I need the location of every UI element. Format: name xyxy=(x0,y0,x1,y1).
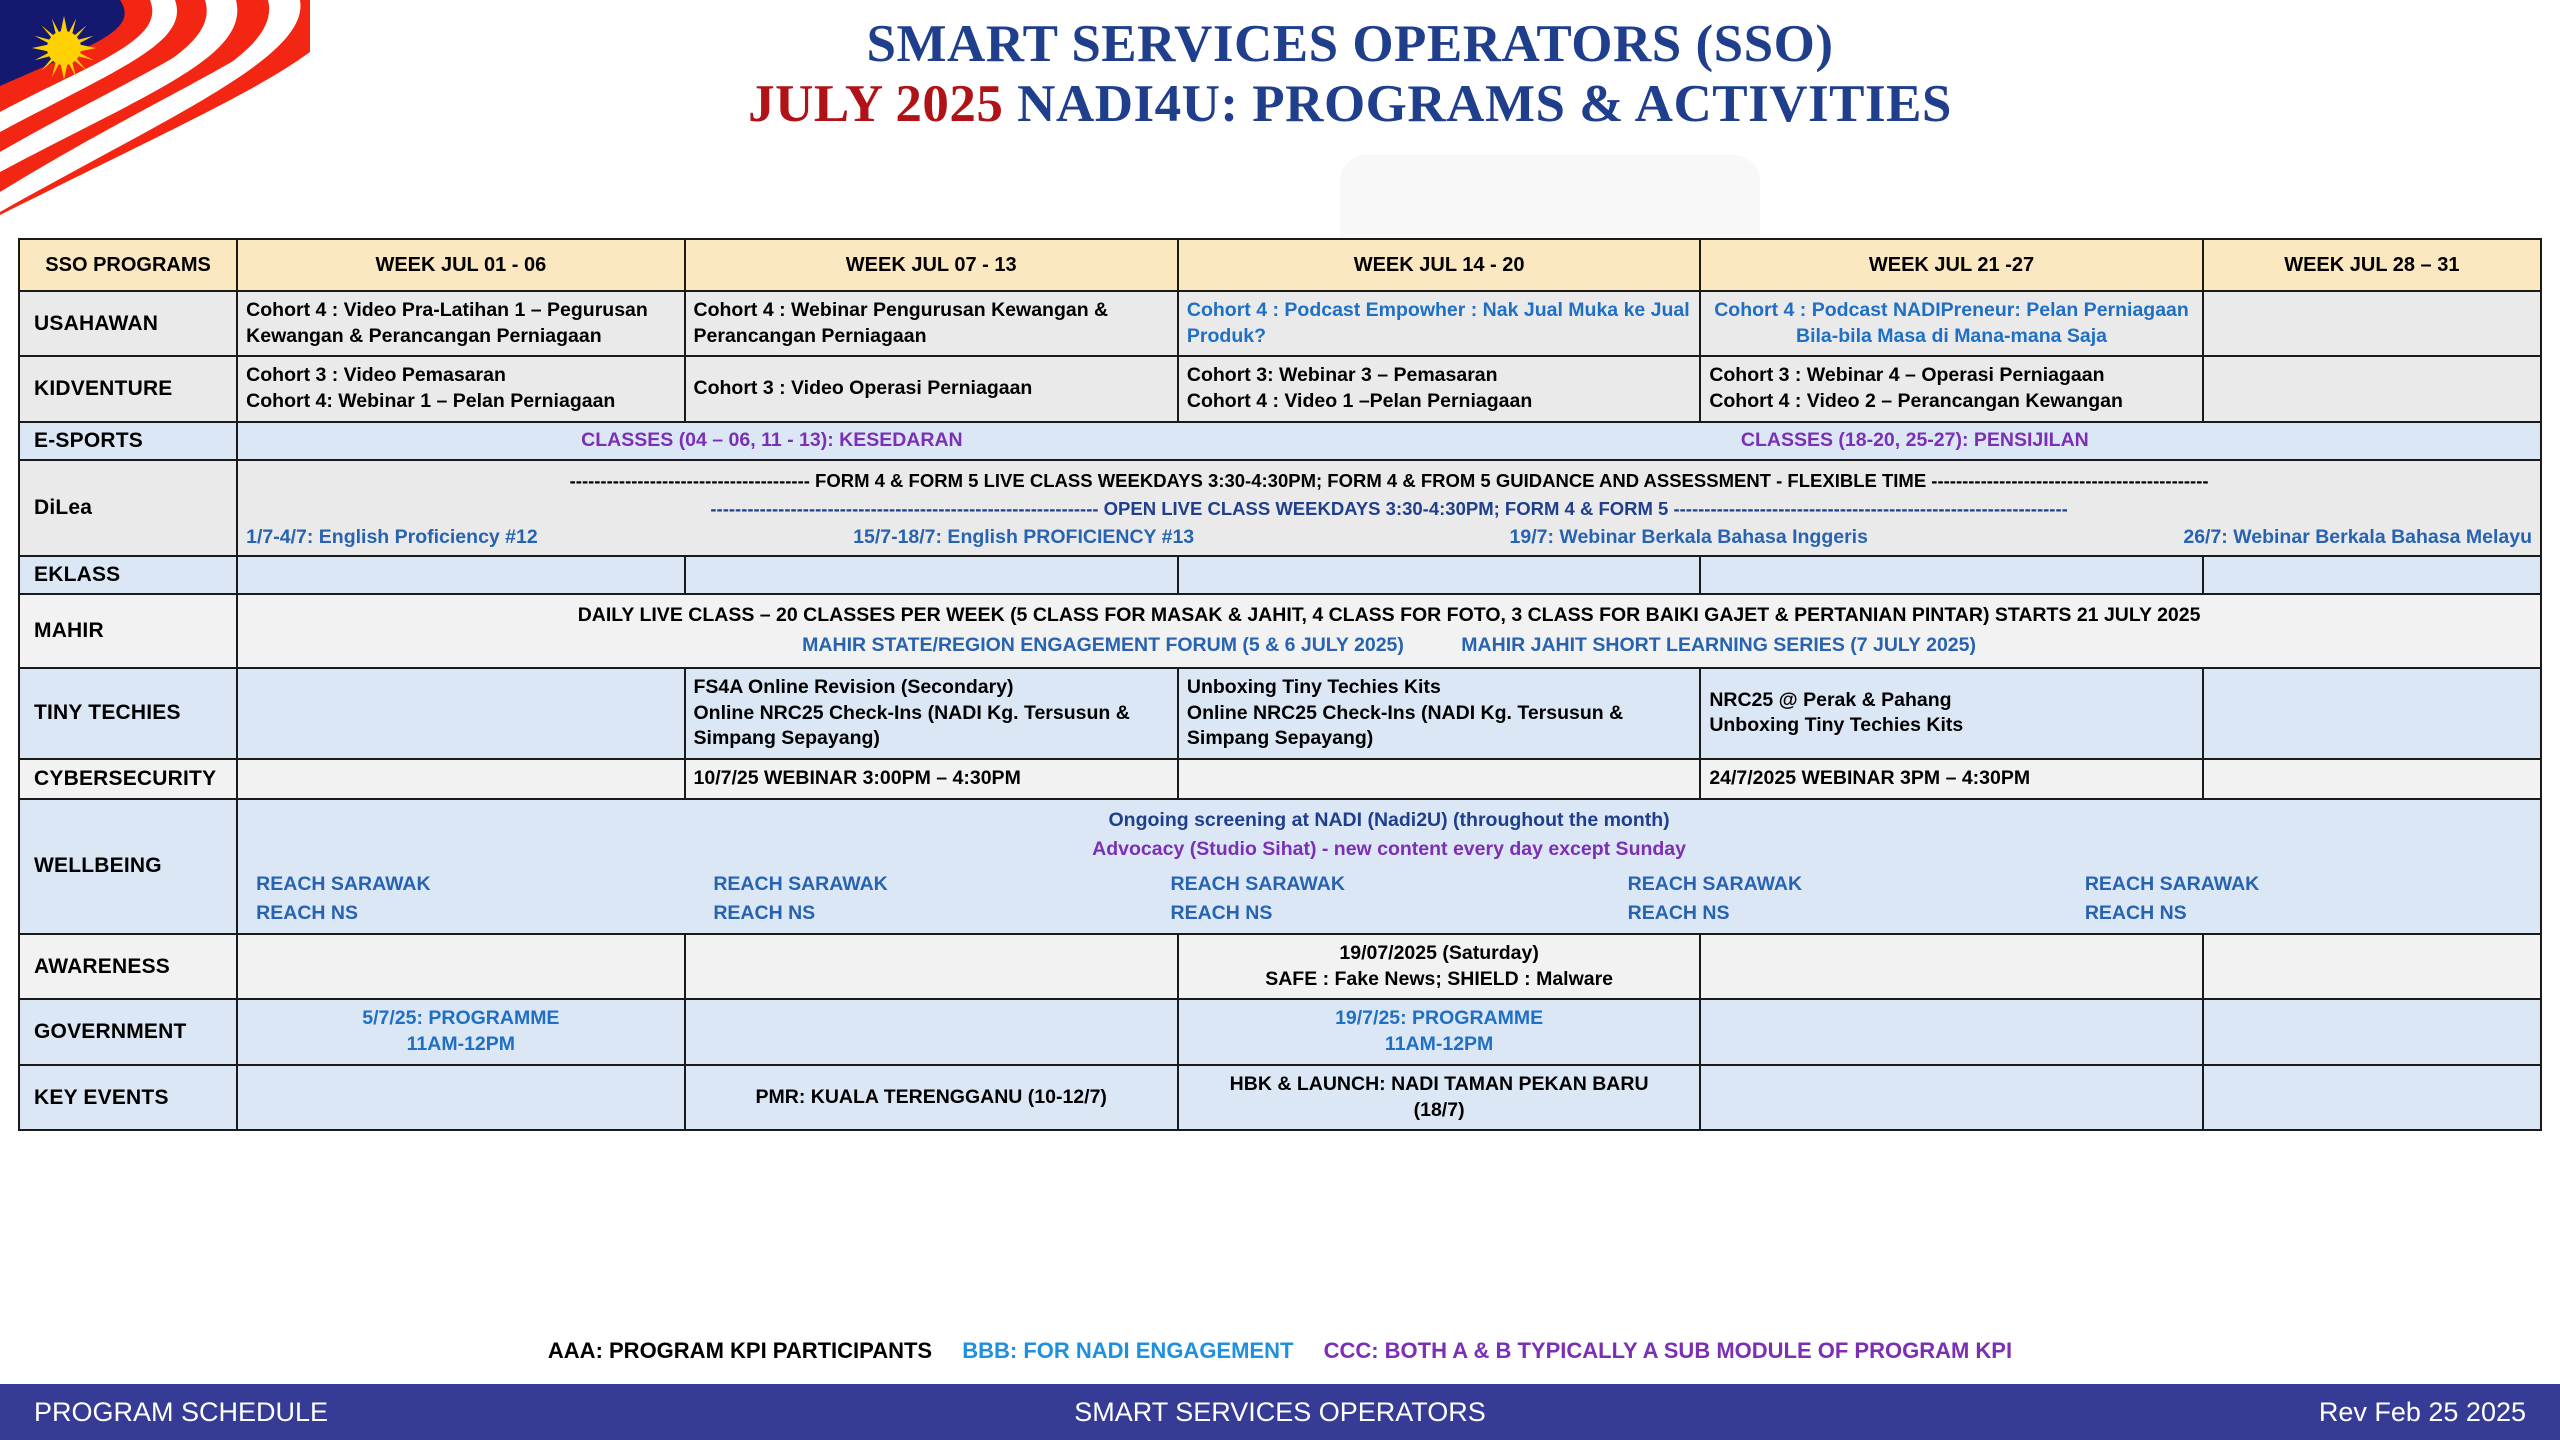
cell-line: Online NRC25 Check-Ins (NADI Kg. Tersusu… xyxy=(694,701,1169,752)
cell-mahir-span: DAILY LIVE CLASS – 20 CLASSES PER WEEK (… xyxy=(237,594,2541,667)
table-row-cybersecurity: CYBERSECURITY 10/7/25 WEBINAR 3:00PM – 4… xyxy=(19,759,2541,799)
cell-eklass-week2 xyxy=(685,556,1178,594)
title-month: JULY 2025 xyxy=(748,75,1003,133)
cell-eklass-week5 xyxy=(2203,556,2541,594)
esports-classes-left: CLASSES (04 – 06, 11 - 13): KESEDARAN xyxy=(246,429,1297,452)
cell-line: Unboxing Tiny Techies Kits xyxy=(1709,713,2193,739)
cell-line: Unboxing Tiny Techies Kits xyxy=(1187,675,1691,701)
footer-bar: PROGRAM SCHEDULE SMART SERVICES OPERATOR… xyxy=(0,1384,2560,1440)
footer-center-label: SMART SERVICES OPERATORS xyxy=(0,1397,2560,1428)
page-title: SMART SERVICES OPERATORS (SSO) JULY 2025… xyxy=(500,14,2200,135)
table-row-tiny-techies: TINY TECHIES FS4A Online Revision (Secon… xyxy=(19,668,2541,759)
dilea-item-4: 26/7: Webinar Berkala Bahasa Melayu xyxy=(2183,526,2532,549)
cell-esports-span: CLASSES (04 – 06, 11 - 13): KESEDARAN CL… xyxy=(237,422,2541,460)
cell-line: NRC25 @ Perak & Pahang xyxy=(1709,688,2193,714)
cell-line: 19/7/25: PROGRAMME xyxy=(1187,1006,1691,1032)
cell-kidventure-week4: Cohort 3 : Webinar 4 – Operasi Perniagaa… xyxy=(1700,356,2202,421)
legend-bbb: BBB: FOR NADI ENGAGEMENT xyxy=(962,1338,1293,1363)
mahir-events: MAHIR STATE/REGION ENGAGEMENT FORUM (5 &… xyxy=(246,630,2532,661)
title-subject: NADI4U: PROGRAMS & ACTIVITIES xyxy=(1003,75,1951,133)
cell-line: 11AM-12PM xyxy=(1187,1032,1691,1058)
table-row-kidventure: KIDVENTURE Cohort 3 : Video Pemasaran Co… xyxy=(19,356,2541,421)
table-row-esports: E-SPORTS CLASSES (04 – 06, 11 - 13): KES… xyxy=(19,422,2541,460)
cell-wellbeing-span: Ongoing screening at NADI (Nadi2U) (thro… xyxy=(237,799,2541,934)
dilea-banner-line-2: ----------------------------------------… xyxy=(246,495,2532,523)
reach-sarawak-w4: REACH SARAWAK xyxy=(1618,870,2075,898)
row-label-mahir: MAHIR xyxy=(19,594,237,667)
row-label-esports: E-SPORTS xyxy=(19,422,237,460)
mahir-event-1: MAHIR STATE/REGION ENGAGEMENT FORUM (5 &… xyxy=(802,634,1404,656)
wellbeing-note-screening: Ongoing screening at NADI (Nadi2U) (thro… xyxy=(246,806,2532,835)
cell-government-week2 xyxy=(685,999,1178,1064)
cell-line: Cohort 4: Webinar 1 – Pelan Perniagaan xyxy=(246,389,675,415)
reach-ns-w2: REACH NS xyxy=(703,899,1160,927)
cell-usahawan-week5 xyxy=(2203,291,2541,356)
cell-usahawan-week4: Cohort 4 : Podcast NADIPreneur: Pelan Pe… xyxy=(1700,291,2202,356)
table-row-wellbeing: WELLBEING Ongoing screening at NADI (Nad… xyxy=(19,799,2541,934)
row-label-kidventure: KIDVENTURE xyxy=(19,356,237,421)
cell-tiny-techies-week5 xyxy=(2203,668,2541,759)
mahir-event-2: MAHIR JAHIT SHORT LEARNING SERIES (7 JUL… xyxy=(1461,634,1976,656)
cell-awareness-week2 xyxy=(685,934,1178,999)
row-label-eklass: EKLASS xyxy=(19,556,237,594)
cell-line: SAFE : Fake News; SHIELD : Malware xyxy=(1187,967,1691,993)
table-row-awareness: AWARENESS 19/07/2025 (Saturday) SAFE : F… xyxy=(19,934,2541,999)
mahir-daily-class-note: DAILY LIVE CLASS – 20 CLASSES PER WEEK (… xyxy=(246,601,2532,629)
title-line-2: JULY 2025 NADI4U: PROGRAMS & ACTIVITIES xyxy=(500,74,2200,134)
legend: AAA: PROGRAM KPI PARTICIPANTS BBB: FOR N… xyxy=(0,1338,2560,1364)
cell-kidventure-week2: Cohort 3 : Video Operasi Perniagaan xyxy=(685,356,1178,421)
cell-tiny-techies-week1 xyxy=(237,668,684,759)
cell-line: Cohort 3 : Video Pemasaran xyxy=(246,363,675,389)
table-row-key-events: KEY EVENTS PMR: KUALA TERENGGANU (10-12/… xyxy=(19,1065,2541,1130)
row-label-dilea: DiLea xyxy=(19,460,237,557)
cell-government-week4 xyxy=(1700,999,2202,1064)
dilea-item-2: 15/7-18/7: English PROFICIENCY #13 xyxy=(853,526,1194,549)
cell-line: Cohort 3 : Webinar 4 – Operasi Perniagaa… xyxy=(1709,363,2193,389)
cell-eklass-week3 xyxy=(1178,556,1700,594)
row-label-usahawan: USAHAWAN xyxy=(19,291,237,356)
cell-usahawan-week1: Cohort 4 : Video Pra-Latihan 1 – Pegurus… xyxy=(237,291,684,356)
row-label-cybersecurity: CYBERSECURITY xyxy=(19,759,237,799)
cell-line: 19/07/2025 (Saturday) xyxy=(1187,941,1691,967)
wellbeing-note-advocacy: Advocacy (Studio Sihat) - new content ev… xyxy=(246,835,2532,864)
column-header-programs: SSO PROGRAMS xyxy=(19,239,237,291)
cell-dilea-span: --------------------------------------- … xyxy=(237,460,2541,557)
row-label-wellbeing: WELLBEING xyxy=(19,799,237,934)
schedule-table: SSO PROGRAMS WEEK JUL 01 - 06 WEEK JUL 0… xyxy=(18,238,2542,1131)
reach-ns-w1: REACH NS xyxy=(246,899,703,927)
legend-ccc: CCC: BOTH A & B TYPICALLY A SUB MODULE O… xyxy=(1324,1338,2013,1363)
column-header-week1: WEEK JUL 01 - 06 xyxy=(237,239,684,291)
cell-key-events-week4 xyxy=(1700,1065,2202,1130)
esports-classes-right: CLASSES (18-20, 25-27): PENSIJILAN xyxy=(1298,429,2532,452)
cell-line: (18/7) xyxy=(1187,1098,1691,1124)
cell-key-events-week2: PMR: KUALA TERENGGANU (10-12/7) xyxy=(685,1065,1178,1130)
cell-awareness-week5 xyxy=(2203,934,2541,999)
cell-tiny-techies-week4: NRC25 @ Perak & Pahang Unboxing Tiny Tec… xyxy=(1700,668,2202,759)
cell-awareness-week4 xyxy=(1700,934,2202,999)
reach-ns-w3: REACH NS xyxy=(1161,899,1618,927)
row-label-tiny-techies: TINY TECHIES xyxy=(19,668,237,759)
cell-cybersecurity-week4: 24/7/2025 WEBINAR 3PM – 4:30PM xyxy=(1700,759,2202,799)
program-schedule-page: SMART SERVICES OPERATORS (SSO) JULY 2025… xyxy=(0,0,2560,1440)
row-label-awareness: AWARENESS xyxy=(19,934,237,999)
cell-line: Cohort 4 : Video 1 –Pelan Perniagaan xyxy=(1187,389,1691,415)
cell-kidventure-week3: Cohort 3: Webinar 3 – Pemasaran Cohort 4… xyxy=(1178,356,1700,421)
cell-key-events-week5 xyxy=(2203,1065,2541,1130)
column-header-week3: WEEK JUL 14 - 20 xyxy=(1178,239,1700,291)
cell-kidventure-week1: Cohort 3 : Video Pemasaran Cohort 4: Web… xyxy=(237,356,684,421)
cell-kidventure-week5 xyxy=(2203,356,2541,421)
column-header-week5: WEEK JUL 28 – 31 xyxy=(2203,239,2541,291)
cell-line: 11AM-12PM xyxy=(246,1032,675,1058)
reach-ns-w5: REACH NS xyxy=(2075,899,2532,927)
cell-government-week3: 19/7/25: PROGRAMME 11AM-12PM xyxy=(1178,999,1700,1064)
cell-line: Cohort 3: Webinar 3 – Pemasaran xyxy=(1187,363,1691,389)
reach-sarawak-w3: REACH SARAWAK xyxy=(1161,870,1618,898)
cell-usahawan-week2: Cohort 4 : Webinar Pengurusan Kewangan &… xyxy=(685,291,1178,356)
dilea-item-3: 19/7: Webinar Berkala Bahasa Inggeris xyxy=(1510,526,1868,549)
cell-cybersecurity-week1 xyxy=(237,759,684,799)
malaysia-flag-icon xyxy=(0,0,310,215)
reach-ns-w4: REACH NS xyxy=(1618,899,2075,927)
footer-revision-label: Rev Feb 25 2025 xyxy=(2319,1397,2526,1428)
cell-line: Cohort 4 : Video 2 – Perancangan Kewanga… xyxy=(1709,389,2193,415)
dilea-item-1: 1/7-4/7: English Proficiency #12 xyxy=(246,526,538,549)
cell-tiny-techies-week3: Unboxing Tiny Techies Kits Online NRC25 … xyxy=(1178,668,1700,759)
cell-awareness-week1 xyxy=(237,934,684,999)
cell-government-week5 xyxy=(2203,999,2541,1064)
cell-cybersecurity-week5 xyxy=(2203,759,2541,799)
row-label-key-events: KEY EVENTS xyxy=(19,1065,237,1130)
cell-eklass-week4 xyxy=(1700,556,2202,594)
cell-usahawan-week3: Cohort 4 : Podcast Empowher : Nak Jual M… xyxy=(1178,291,1700,356)
reach-sarawak-w5: REACH SARAWAK xyxy=(2075,870,2532,898)
cell-government-week1: 5/7/25: PROGRAMME 11AM-12PM xyxy=(237,999,684,1064)
table-header-row: SSO PROGRAMS WEEK JUL 01 - 06 WEEK JUL 0… xyxy=(19,239,2541,291)
reach-sarawak-w1: REACH SARAWAK xyxy=(246,870,703,898)
title-line-1: SMART SERVICES OPERATORS (SSO) xyxy=(500,14,2200,74)
cell-cybersecurity-week2: 10/7/25 WEBINAR 3:00PM – 4:30PM xyxy=(685,759,1178,799)
cell-awareness-week3: 19/07/2025 (Saturday) SAFE : Fake News; … xyxy=(1178,934,1700,999)
table-row-mahir: MAHIR DAILY LIVE CLASS – 20 CLASSES PER … xyxy=(19,594,2541,667)
table-row-dilea: DiLea ----------------------------------… xyxy=(19,460,2541,557)
cell-tiny-techies-week2: FS4A Online Revision (Secondary) Online … xyxy=(685,668,1178,759)
footer-left-label: PROGRAM SCHEDULE xyxy=(34,1397,328,1428)
wellbeing-reach-grid: REACH SARAWAK REACH SARAWAK REACH SARAWA… xyxy=(246,864,2532,927)
cell-key-events-week3: HBK & LAUNCH: NADI TAMAN PEKAN BARU (18/… xyxy=(1178,1065,1700,1130)
dilea-banner-line-1: --------------------------------------- … xyxy=(246,467,2532,495)
dilea-items: 1/7-4/7: English Proficiency #12 15/7-18… xyxy=(246,522,2532,549)
cell-eklass-week1 xyxy=(237,556,684,594)
table-row-government: GOVERNMENT 5/7/25: PROGRAMME 11AM-12PM 1… xyxy=(19,999,2541,1064)
reach-sarawak-w2: REACH SARAWAK xyxy=(703,870,1160,898)
cell-line: Cohort 3 : Video Operasi Perniagaan xyxy=(694,376,1169,402)
table-row-usahawan: USAHAWAN Cohort 4 : Video Pra-Latihan 1 … xyxy=(19,291,2541,356)
cell-line: HBK & LAUNCH: NADI TAMAN PEKAN BARU xyxy=(1187,1072,1691,1098)
cell-cybersecurity-week3 xyxy=(1178,759,1700,799)
row-label-government: GOVERNMENT xyxy=(19,999,237,1064)
table-row-eklass: EKLASS xyxy=(19,556,2541,594)
cell-line: FS4A Online Revision (Secondary) xyxy=(694,675,1169,701)
cell-key-events-week1 xyxy=(237,1065,684,1130)
column-header-week4: WEEK JUL 21 -27 xyxy=(1700,239,2202,291)
cell-line: 5/7/25: PROGRAMME xyxy=(246,1006,675,1032)
legend-aaa: AAA: PROGRAM KPI PARTICIPANTS xyxy=(548,1338,932,1363)
column-header-week2: WEEK JUL 07 - 13 xyxy=(685,239,1178,291)
cell-line: Online NRC25 Check-Ins (NADI Kg. Tersusu… xyxy=(1187,701,1691,752)
